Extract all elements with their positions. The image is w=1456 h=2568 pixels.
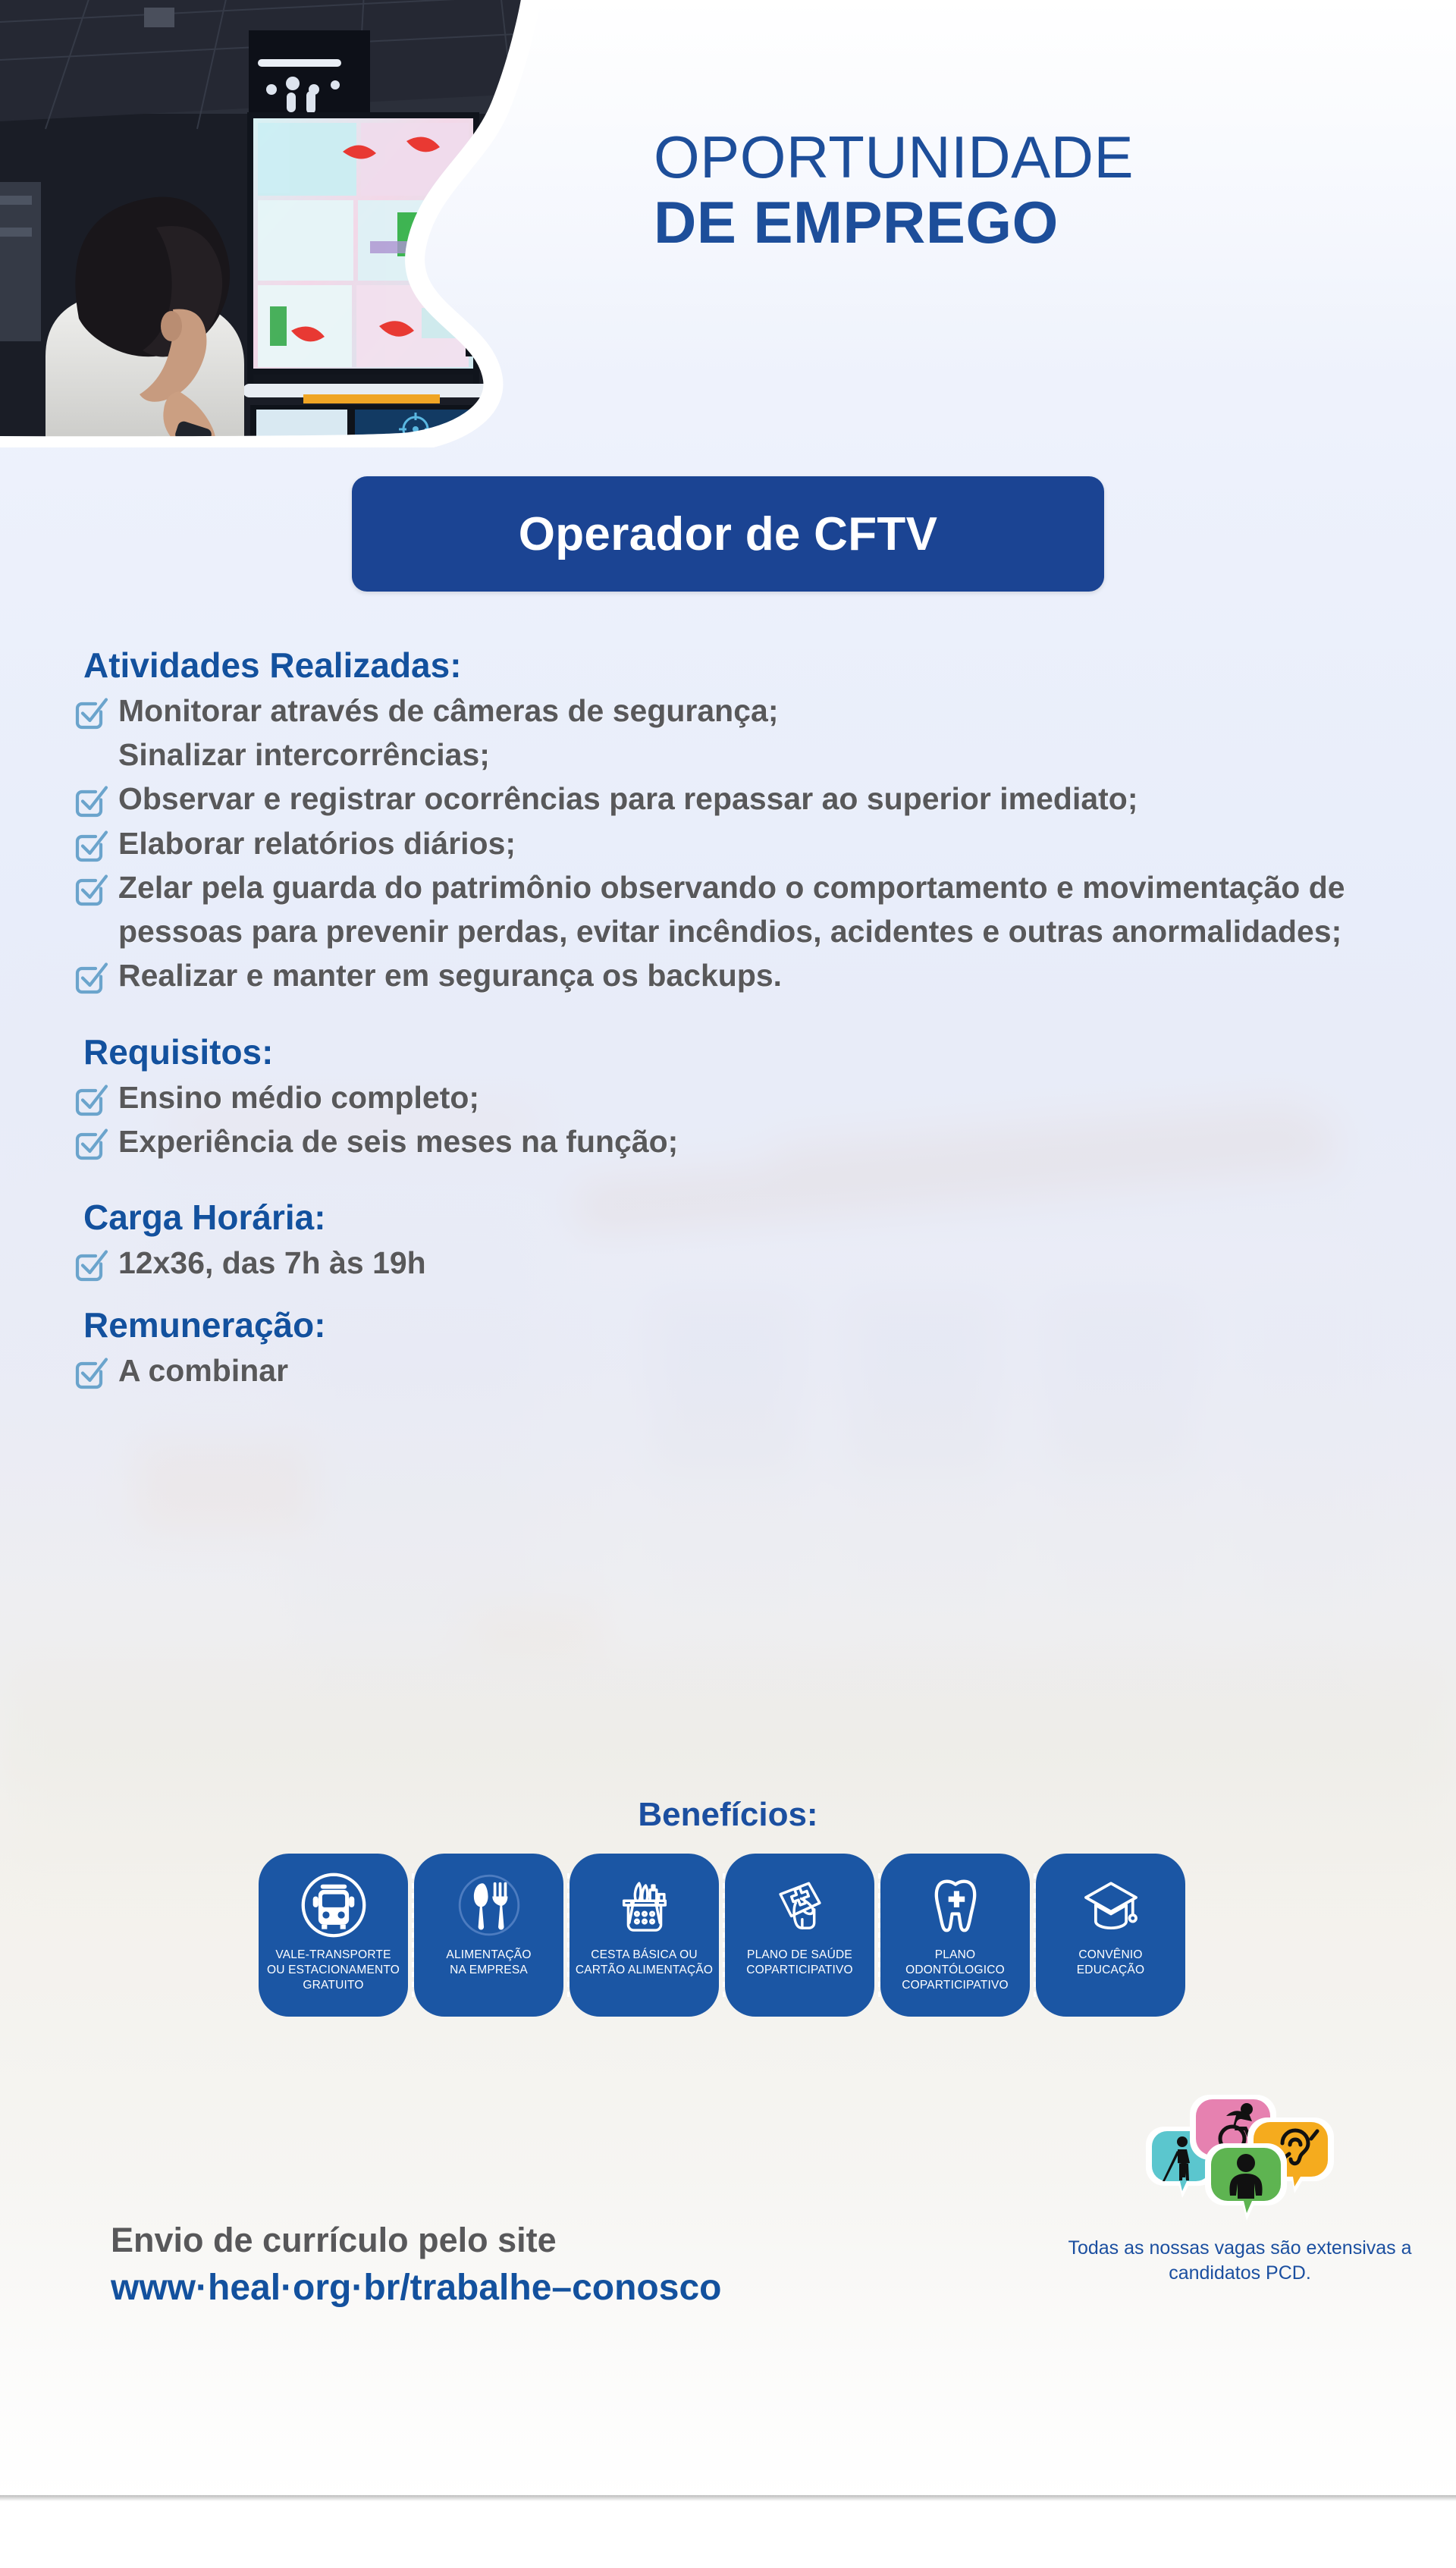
list-item: Ensino médio completo;	[73, 1075, 1456, 1119]
check-icon	[73, 1125, 109, 1162]
list-item-text: A combinar	[118, 1348, 288, 1392]
check-icon	[73, 1247, 109, 1283]
hero-photo	[0, 0, 576, 447]
tooth-icon	[921, 1870, 990, 1940]
check-icon	[73, 827, 109, 864]
benefit-card-convenio-educacao: CONVÊNIOEDUCAÇÃO	[1036, 1854, 1185, 2017]
list-item-text: Experiência de seis meses na função;	[118, 1119, 678, 1163]
benefit-card-cesta-basica: CESTA BÁSICA OUCARTÃO ALIMENTAÇÃO	[570, 1854, 719, 2017]
benefit-label: ALIMENTAÇÃONA EMPRESA	[441, 1948, 535, 1978]
list-item-text: Elaborar relatórios diários;	[118, 821, 516, 865]
list-item: Elaborar relatórios diários;	[73, 821, 1456, 865]
list-item: Realizar e manter em segurança os backup…	[73, 953, 1456, 997]
list-item: Observar e registrar ocorrências para re…	[73, 777, 1456, 821]
list-item-text: Observar e registrar ocorrências para re…	[118, 777, 1138, 821]
benefit-card-plano-odontologico: PLANO ODONTÓLOGICOCOPARTICIPATIVO	[880, 1854, 1030, 2017]
list-item-text-continuation: Sinalizar intercorrências;	[118, 733, 1456, 777]
pcd-text: Todas as nossas vagas são extensivas a c…	[1058, 2236, 1422, 2285]
list-item: A combinar	[73, 1348, 1456, 1392]
benefits-title: Benefícios:	[0, 1796, 1456, 1834]
benefit-label: CESTA BÁSICA OUCARTÃO ALIMENTAÇÃO	[571, 1948, 717, 1978]
benefit-label: CONVÊNIOEDUCAÇÃO	[1072, 1948, 1149, 1978]
cta-block: Envio de currículo pelo site www·heal·or…	[111, 2219, 721, 2312]
list-item: Zelar pela guarda do patrimônio observan…	[73, 865, 1456, 953]
title-line-2: DE EMPREGO	[654, 193, 1397, 253]
cta-line-1: Envio de currículo pelo site	[111, 2219, 721, 2262]
pcd-bubbles-icon	[1119, 2084, 1361, 2233]
benefit-label: VALE-TRANSPORTEOU ESTACIONAMENTOGRATUITO	[262, 1948, 404, 1992]
section-heading-requisitos: Requisitos:	[83, 1031, 1456, 1072]
pcd-notice: Todas as nossas vagas são extensivas a c…	[1058, 2084, 1422, 2285]
cutlery-icon	[454, 1870, 524, 1940]
list-item-text: Monitorar através de câmeras de seguranç…	[118, 689, 779, 733]
benefit-card-plano-saude: PLANO DE SAÚDECOPARTICIPATIVO	[725, 1854, 874, 2017]
check-icon	[73, 959, 109, 996]
check-icon	[73, 1082, 109, 1118]
benefit-card-vale-transporte: VALE-TRANSPORTEOU ESTACIONAMENTOGRATUITO	[259, 1854, 408, 2017]
list-item-text: Realizar e manter em segurança os backup…	[118, 953, 782, 997]
benefit-label: PLANO DE SAÚDECOPARTICIPATIVO	[742, 1948, 858, 1978]
section-heading-carga-horaria: Carga Horária:	[83, 1197, 1456, 1238]
page-title: OPORTUNIDADE DE EMPREGO	[654, 127, 1397, 253]
bus-icon	[299, 1870, 369, 1940]
benefits-row: VALE-TRANSPORTEOU ESTACIONAMENTOGRATUITO…	[259, 1854, 1185, 2017]
section-heading-atividades: Atividades Realizadas:	[83, 645, 1456, 686]
section-heading-remuneracao: Remuneração:	[83, 1304, 1456, 1345]
graduation-cap-icon	[1076, 1870, 1146, 1940]
benefit-card-alimentacao: ALIMENTAÇÃONA EMPRESA	[414, 1854, 563, 2017]
job-title-badge: Operador de CFTV	[352, 476, 1104, 592]
health-card-icon	[765, 1870, 835, 1940]
grocery-basket-icon	[610, 1870, 679, 1940]
list-item: 12x36, das 7h às 19h	[73, 1241, 1456, 1285]
job-details: Atividades Realizadas: Monitorar através…	[0, 645, 1456, 1392]
job-title-label: Operador de CFTV	[519, 507, 938, 561]
list-item: Monitorar através de câmeras de seguranç…	[73, 689, 1456, 733]
footer-divider	[0, 2495, 1456, 2501]
list-item-text: Ensino médio completo;	[118, 1075, 479, 1119]
footer: heal.org.br @instituto.heal (31) 3115-26…	[0, 2359, 1456, 2495]
list-item-text: 12x36, das 7h às 19h	[118, 1241, 426, 1285]
check-icon	[73, 1355, 109, 1391]
title-line-1: OPORTUNIDADE	[654, 127, 1397, 188]
check-icon	[73, 695, 109, 731]
cta-website-link[interactable]: www·heal·org·br/trabalhe–conosco	[111, 2265, 721, 2312]
list-item: Experiência de seis meses na função;	[73, 1119, 1456, 1163]
check-icon	[73, 783, 109, 819]
benefit-label: PLANO ODONTÓLOGICOCOPARTICIPATIVO	[880, 1948, 1030, 1992]
list-item-text: Zelar pela guarda do patrimônio observan…	[118, 865, 1377, 953]
job-posting-poster: OPORTUNIDADE DE EMPREGO Operador de CFTV…	[0, 0, 1456, 2568]
check-icon	[73, 871, 109, 908]
